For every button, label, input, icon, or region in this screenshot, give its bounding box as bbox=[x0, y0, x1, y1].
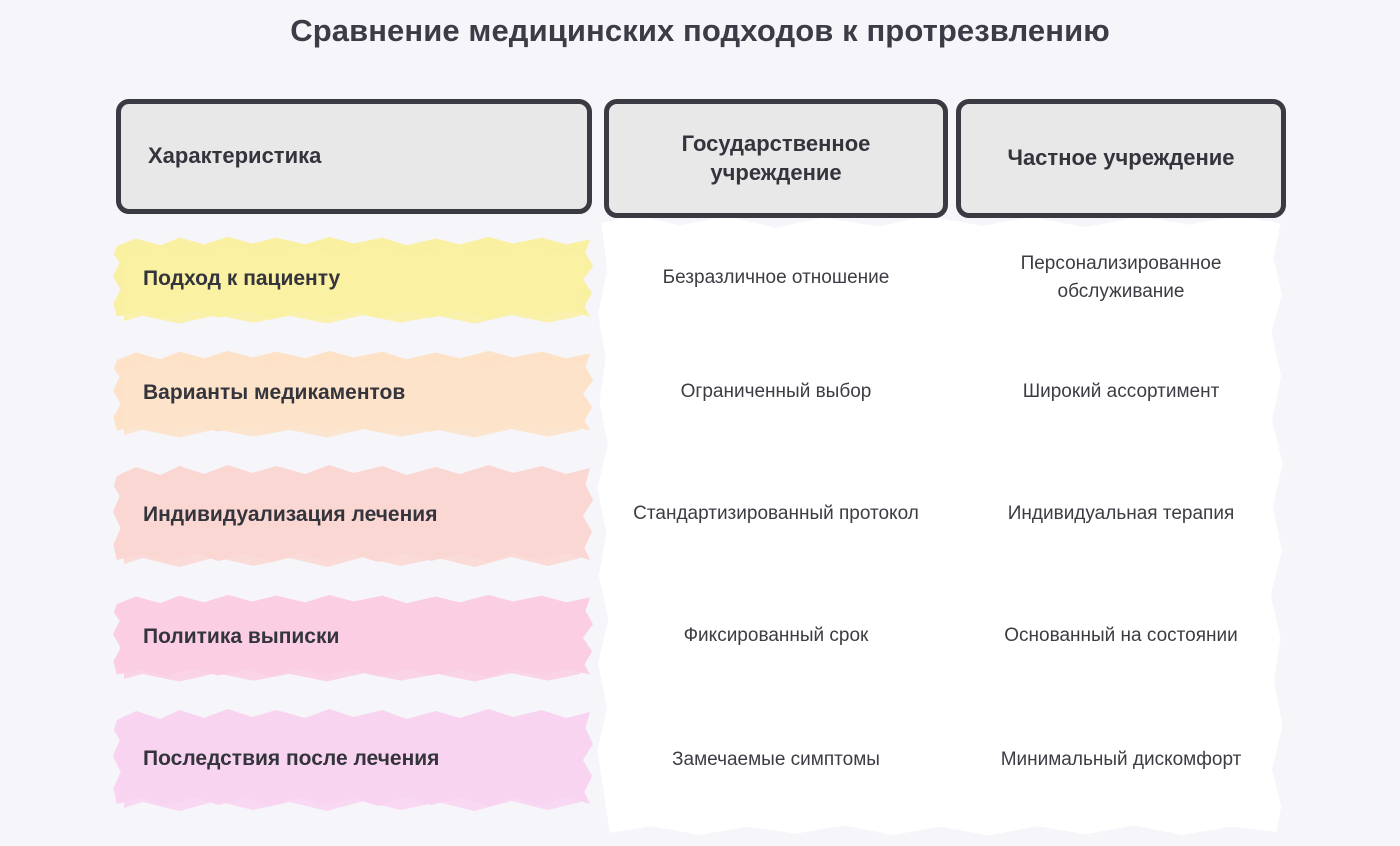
column-header-private-institution: Частное учреждение bbox=[956, 99, 1286, 218]
column-header-characteristic: Характеристика bbox=[116, 99, 592, 214]
row-label-text: Политика выписки bbox=[143, 623, 339, 651]
table-cell-public: Фиксированный срок bbox=[604, 590, 948, 682]
row-label-text: Подход к пациенту bbox=[143, 265, 340, 293]
row-label-highlight: Варианты медикаментов bbox=[110, 342, 595, 444]
table-cell-public: Стандартизированный протокол bbox=[604, 462, 948, 566]
table-cell-public: Замечаемые симптомы bbox=[604, 708, 948, 812]
table-cell-private: Основанный на состоянии bbox=[956, 590, 1286, 682]
row-label-highlight: Подход к пациенту bbox=[110, 228, 595, 330]
column-header-label: Частное учреждение bbox=[1007, 144, 1234, 172]
row-label-text: Последствия после лечения bbox=[143, 745, 439, 773]
column-header-label: Характеристика bbox=[148, 142, 321, 170]
table-cell-private: Широкий ассортимент bbox=[956, 346, 1286, 438]
page-title: Сравнение медицинских подходов к протрез… bbox=[0, 13, 1400, 49]
row-label-text: Варианты медикаментов bbox=[143, 379, 405, 407]
table-cell-public: Ограниченный выбор bbox=[604, 346, 948, 438]
table-cell-private: Минимальный дискомфорт bbox=[956, 708, 1286, 812]
row-label-text: Индивидуализация лечения bbox=[143, 501, 437, 529]
row-label-highlight: Индивидуализация лечения bbox=[110, 456, 595, 574]
row-label-highlight: Политика выписки bbox=[110, 586, 595, 688]
table-cell-private: Индивидуальная терапия bbox=[956, 462, 1286, 566]
table-cell-public: Безразличное отношение bbox=[604, 232, 948, 324]
table-cell-private: Персонализированное обслуживание bbox=[956, 232, 1286, 324]
comparison-table-page: Сравнение медицинских подходов к протрез… bbox=[0, 0, 1400, 846]
column-header-label: Государственное учреждение bbox=[623, 130, 929, 186]
row-label-highlight: Последствия после лечения bbox=[110, 700, 595, 818]
column-header-public-institution: Государственное учреждение bbox=[604, 99, 948, 218]
